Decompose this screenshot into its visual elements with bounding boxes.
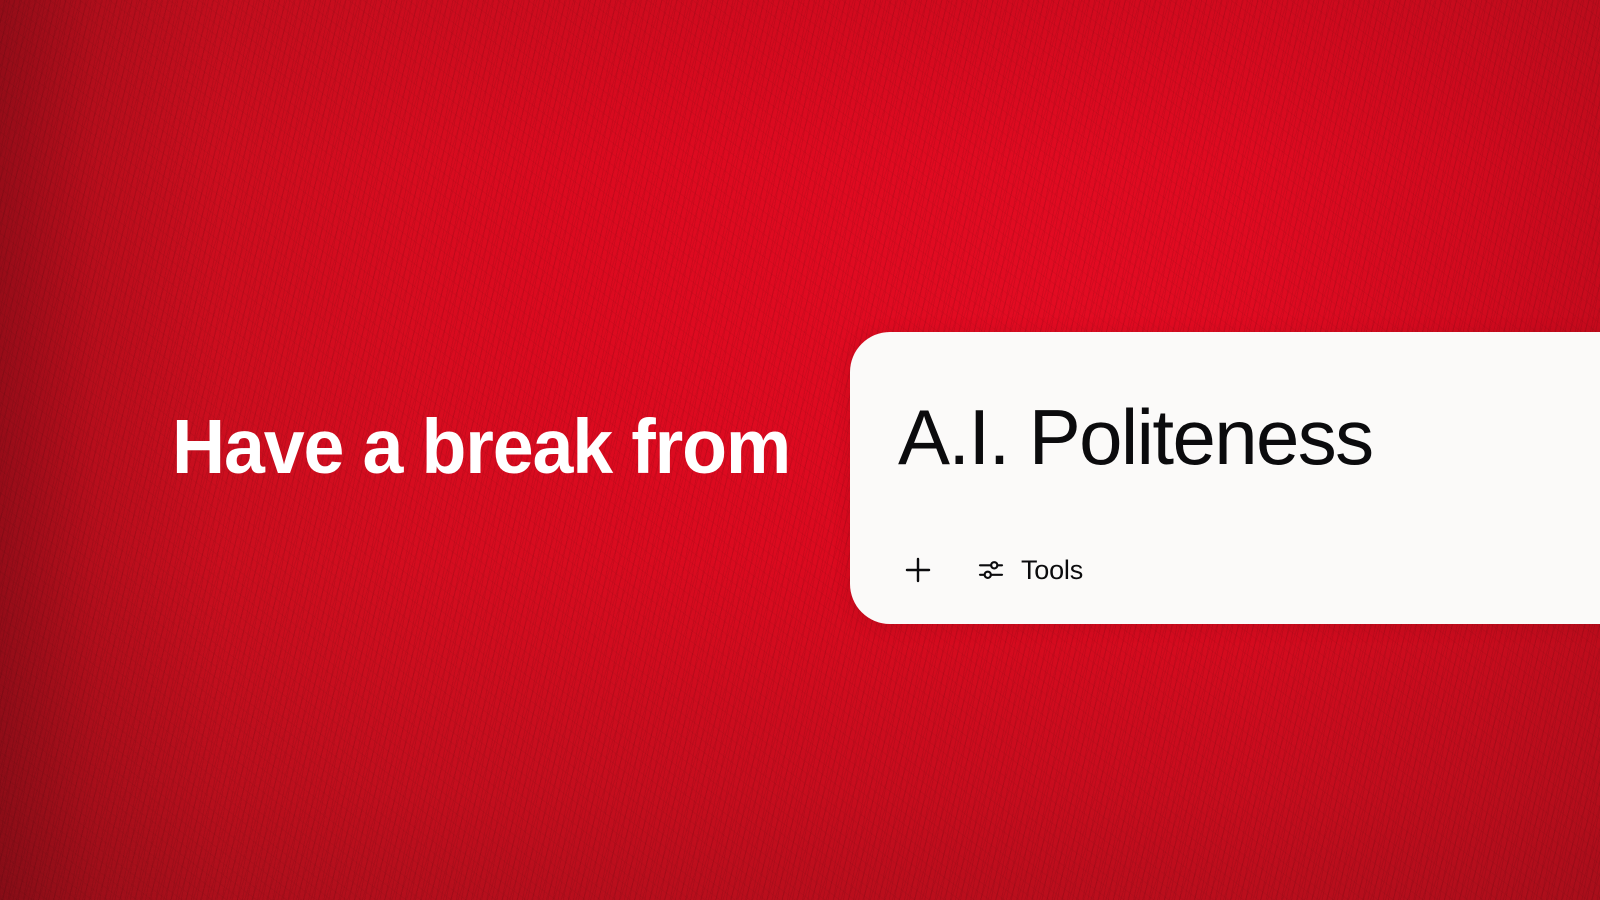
add-attachment-button[interactable] xyxy=(896,548,940,592)
headline-text: Have a break from xyxy=(172,399,790,495)
plus-icon xyxy=(901,553,935,587)
prompt-input-value[interactable]: A.I. Politeness xyxy=(898,398,1373,476)
composer-action-bar: Tools xyxy=(896,548,1087,592)
sliders-icon xyxy=(976,555,1006,585)
tools-button[interactable]: Tools xyxy=(972,548,1087,592)
tools-button-label: Tools xyxy=(1021,557,1083,584)
chat-composer-card[interactable]: A.I. Politeness xyxy=(850,332,1600,624)
screenshot-canvas: Have a break from A.I. Politeness xyxy=(0,0,1600,900)
